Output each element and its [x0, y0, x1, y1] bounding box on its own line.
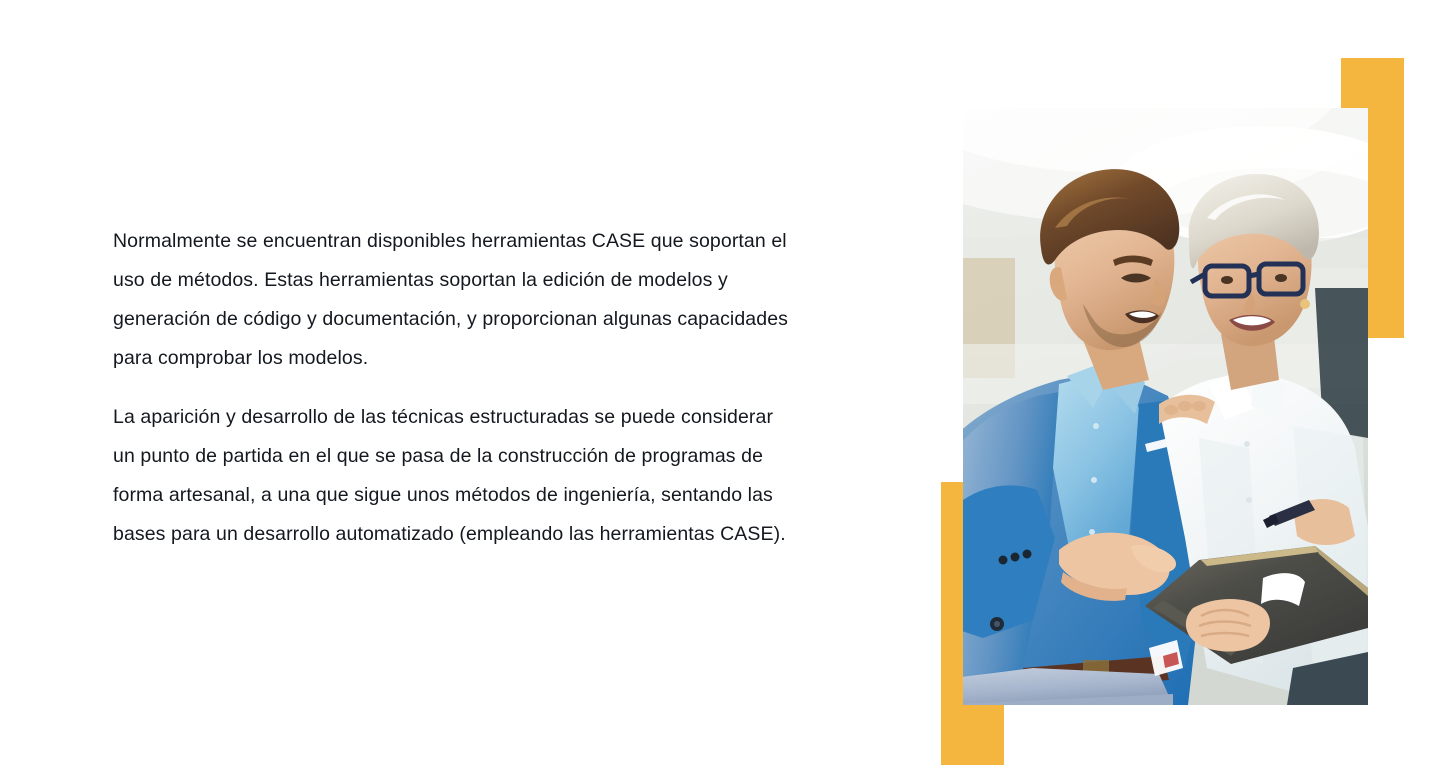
paragraph-2: La aparición y desarrollo de las técnica…: [113, 398, 793, 554]
people-with-tablet-photo: [963, 108, 1368, 705]
body-text-column: Normalmente se encuentran disponibles he…: [113, 222, 793, 554]
photo-frame: [963, 108, 1368, 705]
slide-canvas: Normalmente se encuentran disponibles he…: [0, 0, 1440, 767]
paragraph-1: Normalmente se encuentran disponibles he…: [113, 222, 793, 378]
